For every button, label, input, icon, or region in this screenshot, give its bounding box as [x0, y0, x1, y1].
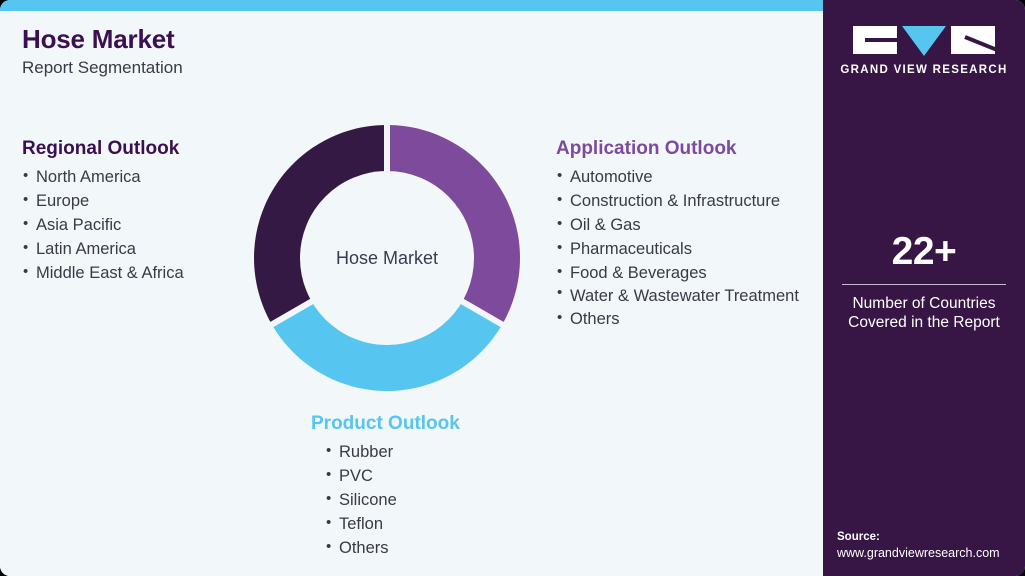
stat-caption: Number of Countries Covered in the Repor… [833, 294, 1015, 333]
list-item: Construction & Infrastructure [556, 190, 818, 214]
list-item: Silicone [325, 489, 531, 513]
side-panel: GRAND VIEW RESEARCH 22+ Number of Countr… [823, 0, 1025, 576]
stat-value: 22+ [833, 232, 1015, 271]
list-item: Latin America [22, 238, 252, 262]
stat-block: 22+ Number of Countries Covered in the R… [833, 232, 1015, 333]
stat-divider [842, 284, 1006, 285]
source-label: Source: [837, 530, 1017, 545]
title-block: Hose Market Report Segmentation [22, 25, 183, 77]
page-subtitle: Report Segmentation [22, 59, 183, 78]
application-outlook-heading: Application Outlook [556, 139, 818, 160]
product-outlook-heading: Product Outlook [311, 414, 531, 435]
donut-hole [300, 171, 474, 345]
source-block: Source: www.grandviewresearch.com [837, 530, 1017, 562]
logo-wordmark: GRAND VIEW RESEARCH [823, 64, 1025, 76]
list-item: Teflon [325, 513, 531, 537]
list-item: Food & Beverages [556, 262, 818, 286]
list-item: Middle East & Africa [22, 262, 252, 286]
stat-caption-line2: Covered in the Report [833, 313, 1015, 332]
product-outlook-list: Rubber PVC Silicone Teflon Others [325, 441, 531, 561]
regional-outlook-heading: Regional Outlook [22, 139, 252, 160]
donut-chart: Hose Market [247, 118, 527, 398]
product-outlook-block: Product Outlook Rubber PVC Silicone Tefl… [311, 414, 531, 561]
list-item: Water & Wastewater Treatment [556, 286, 818, 309]
source-url[interactable]: www.grandviewresearch.com [837, 545, 1017, 562]
logo-g-icon [853, 26, 897, 54]
list-item: Rubber [325, 441, 531, 465]
stat-caption-line1: Number of Countries [833, 294, 1015, 313]
application-outlook-list: Automotive Construction & Infrastructure… [556, 166, 818, 332]
regional-outlook-list: North America Europe Asia Pacific Latin … [22, 166, 252, 286]
logo-r-icon [951, 26, 995, 54]
list-item: Pharmaceuticals [556, 238, 818, 262]
infographic-poster: Hose Market Report Segmentation [0, 0, 1025, 576]
donut-chart-svg [247, 118, 527, 398]
list-item: Automotive [556, 166, 818, 190]
list-item: Oil & Gas [556, 214, 818, 238]
top-accent-bar [0, 0, 823, 11]
list-item: Others [556, 308, 818, 332]
list-item: PVC [325, 465, 531, 489]
page-title: Hose Market [22, 25, 183, 54]
regional-outlook-block: Regional Outlook North America Europe As… [22, 139, 252, 286]
list-item: North America [22, 166, 252, 190]
list-item: Asia Pacific [22, 214, 252, 238]
logo-marks [823, 26, 1025, 56]
application-outlook-block: Application Outlook Automotive Construct… [556, 139, 818, 332]
list-item: Others [325, 537, 531, 561]
brand-logo: GRAND VIEW RESEARCH [823, 26, 1025, 76]
content-area: Hose Market Report Segmentation [0, 11, 823, 576]
logo-v-triangle-icon [902, 26, 946, 56]
list-item: Europe [22, 190, 252, 214]
